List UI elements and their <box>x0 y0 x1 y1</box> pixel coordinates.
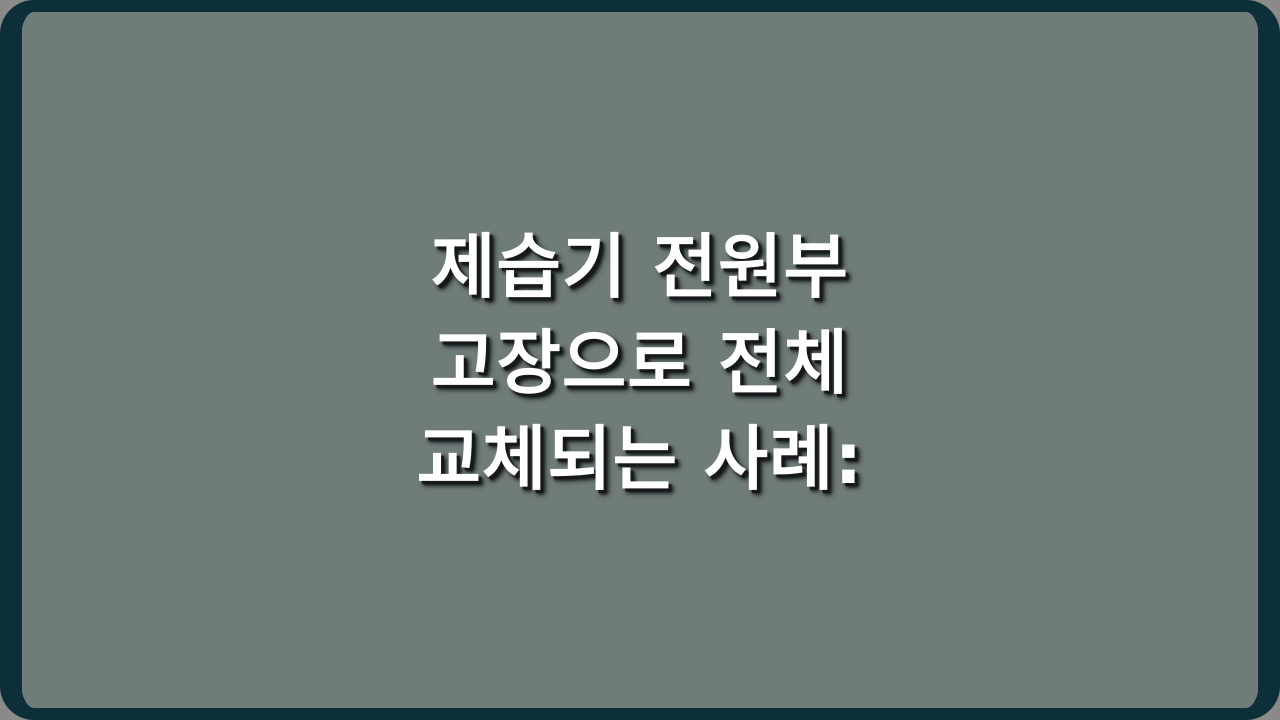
caption-line-3: 교체되는 사례: <box>62 411 1218 507</box>
slide-root: 제습기 전원부 고장으로 전체 교체되는 사례: <box>0 0 1280 720</box>
caption-line-1: 제습기 전원부 <box>62 219 1218 315</box>
content-panel: 제습기 전원부 고장으로 전체 교체되는 사례: <box>22 12 1258 708</box>
caption-block: 제습기 전원부 고장으로 전체 교체되는 사례: <box>22 219 1258 507</box>
caption-line-2: 고장으로 전체 <box>62 315 1218 411</box>
